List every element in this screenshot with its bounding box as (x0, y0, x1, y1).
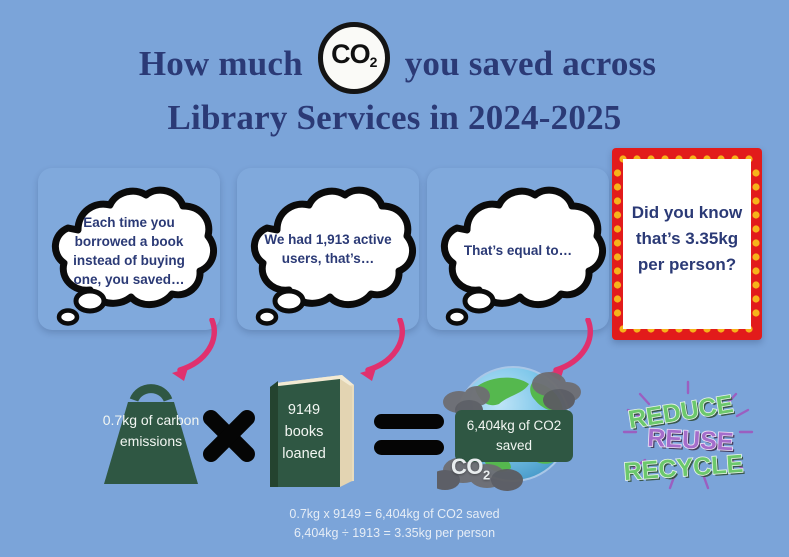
title-line-2: Library Services in 2024-2025 (0, 94, 789, 142)
equals-bar-bottom (374, 440, 444, 455)
equals-bar-top (374, 414, 444, 429)
calculation-line-1: 0.7kg x 9149 = 6,404kg of CO2 saved (0, 505, 789, 524)
calculation-footnote: 0.7kg x 9149 = 6,404kg of CO2 saved 6,40… (0, 505, 789, 543)
title-line-1: How much CO2 you saved across (0, 22, 789, 94)
title-text-after: you saved across (405, 44, 656, 83)
co2-badge-icon: CO2 (318, 22, 390, 94)
page-title: How much CO2 you saved across Library Se… (0, 22, 789, 142)
thought-bubble-card-2[interactable]: We had 1,913 active users, that’s… (237, 168, 419, 330)
title-text-before: How much (139, 44, 303, 83)
thought-bubble-card-3[interactable]: That’s equal to… (427, 168, 609, 330)
book-graphic: 9149 books loaned (264, 369, 360, 489)
multiply-operator (201, 408, 257, 464)
co2-text-mark: CO2 (451, 454, 490, 482)
multiply-icon (201, 408, 257, 464)
globe-graphic: 6,404kg of CO2 saved CO2 (437, 358, 589, 498)
thought-bubble-card-1[interactable]: Each time you borrowed a book instead of… (38, 168, 220, 330)
equals-operator (374, 414, 444, 458)
thought-cloud-icon (38, 168, 220, 330)
reduce-reuse-recycle-badge: REDUCE REDUCE REUSE REUSE RECYCLE RECYCL… (618, 380, 758, 495)
calculation-line-2: 6,404kg ÷ 1913 = 3.35kg per person (0, 524, 789, 543)
did-you-know-text: Did you know that’s 3.35kg per person? (629, 200, 745, 278)
did-you-know-box[interactable]: Did you know that’s 3.35kg per person? (612, 148, 762, 340)
did-you-know-inner: Did you know that’s 3.35kg per person? (623, 159, 751, 329)
thought-cloud-icon (427, 168, 609, 330)
co2-badge-label: CO2 (323, 30, 385, 86)
infographic-canvas: How much CO2 you saved across Library Se… (0, 0, 789, 557)
book-label: 9149 books loaned (270, 399, 338, 465)
thought-cloud-icon (237, 168, 419, 330)
